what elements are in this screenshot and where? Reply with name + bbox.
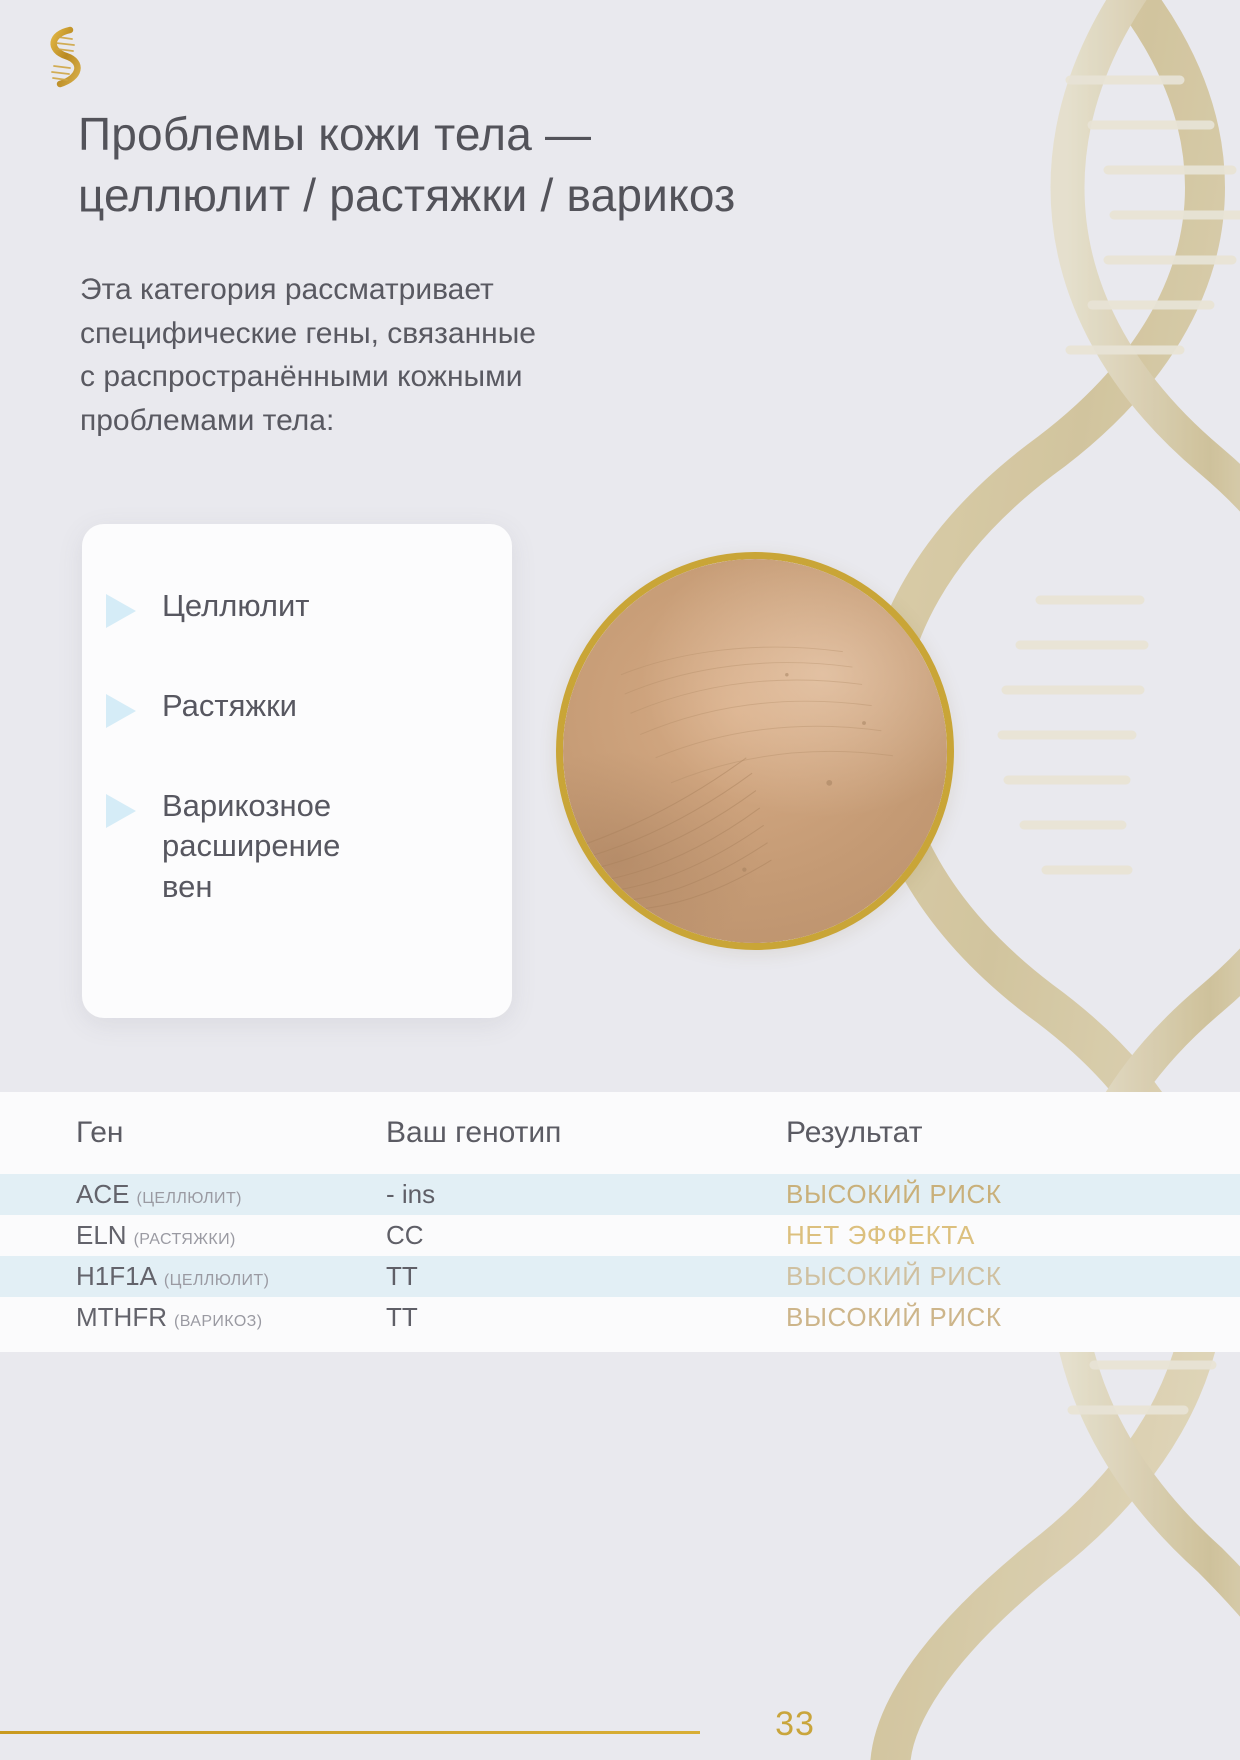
column-header-gene: Ген <box>76 1116 386 1150</box>
dna-helix-icon <box>36 24 88 90</box>
triangle-right-icon <box>106 694 136 728</box>
skin-texture-overlay <box>563 559 947 943</box>
gene-name: ELN <box>76 1220 127 1250</box>
triangle-right-icon <box>106 594 136 628</box>
page-title: Проблемы кожи тела — целлюлит / растяжки… <box>78 104 978 226</box>
intro-paragraph: Эта категория рассматривает специфически… <box>80 268 810 442</box>
gene-name: H1F1A <box>76 1261 157 1291</box>
gene-tag: (ЦЕЛЛЮЛИТ) <box>136 1190 241 1207</box>
slide-page: Проблемы кожи тела — целлюлит / растяжки… <box>0 0 1240 1754</box>
gene-name: MTHFR <box>76 1302 167 1332</box>
gene-name: ACE <box>76 1179 129 1209</box>
gene-tag: (ВАРИКОЗ) <box>174 1313 263 1330</box>
list-item[interactable]: Растяжки <box>106 686 486 728</box>
genotype-value: - ins <box>386 1179 786 1210</box>
list-item[interactable]: Целлюлит <box>106 586 486 628</box>
table-row[interactable]: ACE(ЦЕЛЛЮЛИТ) - ins ВЫСОКИЙ РИСК <box>0 1174 1240 1215</box>
page-number: 33 <box>735 1705 855 1744</box>
table-header-row: Ген Ваш генотип Результат <box>0 1092 1240 1174</box>
genotype-value: TT <box>386 1261 786 1292</box>
list-item[interactable]: Варикозное расширение вен <box>106 786 486 907</box>
result-badge: ВЫСОКИЙ РИСК <box>786 1261 1192 1292</box>
result-badge: ВЫСОКИЙ РИСК <box>786 1179 1192 1210</box>
condition-list-card: Целлюлит Растяжки Варикозное расширение … <box>82 524 512 1018</box>
list-item-label: Целлюлит <box>162 586 310 626</box>
gene-tag: (ЦЕЛЛЮЛИТ) <box>164 1272 269 1289</box>
list-item-label: Варикозное расширение вен <box>162 786 340 907</box>
genotype-value: CC <box>386 1220 786 1251</box>
table-row[interactable]: ELN(РАСТЯЖКИ) CC НЕТ ЭФФЕКТА <box>0 1215 1240 1256</box>
result-badge: ВЫСОКИЙ РИСК <box>786 1302 1192 1333</box>
list-item-label: Растяжки <box>162 686 297 726</box>
triangle-right-icon <box>106 794 136 828</box>
result-badge: НЕТ ЭФФЕКТА <box>786 1220 1192 1251</box>
results-table: Ген Ваш генотип Результат ACE(ЦЕЛЛЮЛИТ) … <box>0 1092 1240 1338</box>
column-header-genotype: Ваш генотип <box>386 1116 786 1150</box>
genotype-value: TT <box>386 1302 786 1333</box>
gene-tag: (РАСТЯЖКИ) <box>134 1231 236 1248</box>
footer-rule <box>0 1731 700 1734</box>
skin-photo <box>556 552 954 950</box>
table-row[interactable]: MTHFR(ВАРИКОЗ) TT ВЫСОКИЙ РИСК <box>0 1297 1240 1338</box>
column-header-result: Результат <box>786 1116 1192 1150</box>
table-row[interactable]: H1F1A(ЦЕЛЛЮЛИТ) TT ВЫСОКИЙ РИСК <box>0 1256 1240 1297</box>
